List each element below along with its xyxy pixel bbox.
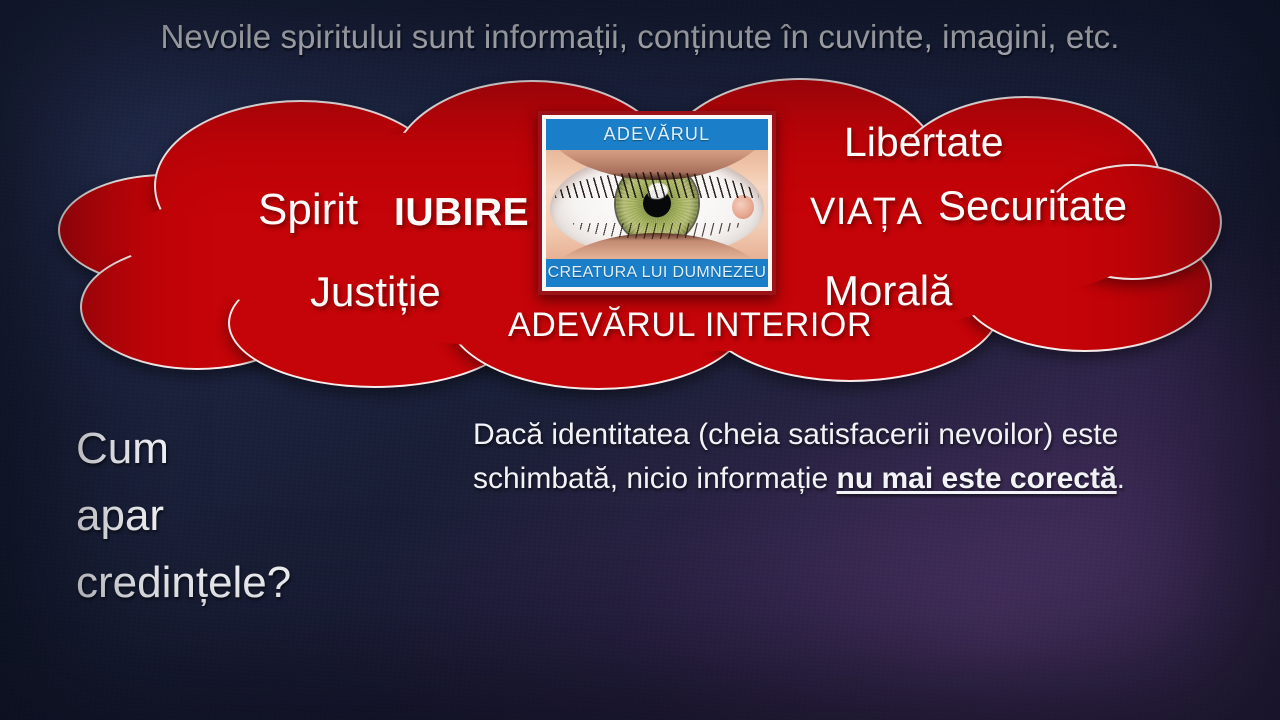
question-line-3: credințele? xyxy=(76,550,291,617)
paragraph-emphasis: nu mai este corectă xyxy=(837,462,1117,495)
cloud-word-securitate: Securitate xyxy=(938,182,1127,230)
question-line-2: apar xyxy=(76,483,291,550)
eye-banner-bottom: CREATURA LUI DUMNEZEU xyxy=(546,259,768,287)
slide-canvas: Nevoile spiritului sunt informații, conț… xyxy=(0,0,1280,720)
question-line-1: Cum xyxy=(76,416,291,483)
explanation-paragraph: Dacă identitatea (cheia satisfacerii nev… xyxy=(473,413,1163,500)
cloud-word-adevarul-interior: ADEVĂRUL INTERIOR xyxy=(508,306,872,345)
eye-photo xyxy=(546,150,768,259)
cloud-word-justitie: Justiție xyxy=(310,268,441,316)
eye-banner-top: ADEVĂRUL xyxy=(546,119,768,150)
cloud-word-libertate: Libertate xyxy=(844,119,1004,166)
page-title: Nevoile spiritului sunt informații, conț… xyxy=(0,18,1280,56)
question-text: Cum apar credințele? xyxy=(76,416,291,617)
cloud-word-spirit: Spirit xyxy=(258,185,358,235)
eye-card-inner: ADEVĂRUL CREATURA LUI DUMNEZEU xyxy=(546,119,768,287)
eye-card: ADEVĂRUL CREATURA LUI DUMNEZEU xyxy=(538,111,776,295)
cloud-graphic: Spirit IUBIRE Justiție Libertate VIAȚA S… xyxy=(58,78,1218,388)
cloud-word-iubire: IUBIRE xyxy=(394,191,529,235)
paragraph-tail: . xyxy=(1117,462,1125,495)
cloud-word-viata: VIAȚA xyxy=(810,191,922,234)
eye-tear-duct xyxy=(732,195,754,219)
